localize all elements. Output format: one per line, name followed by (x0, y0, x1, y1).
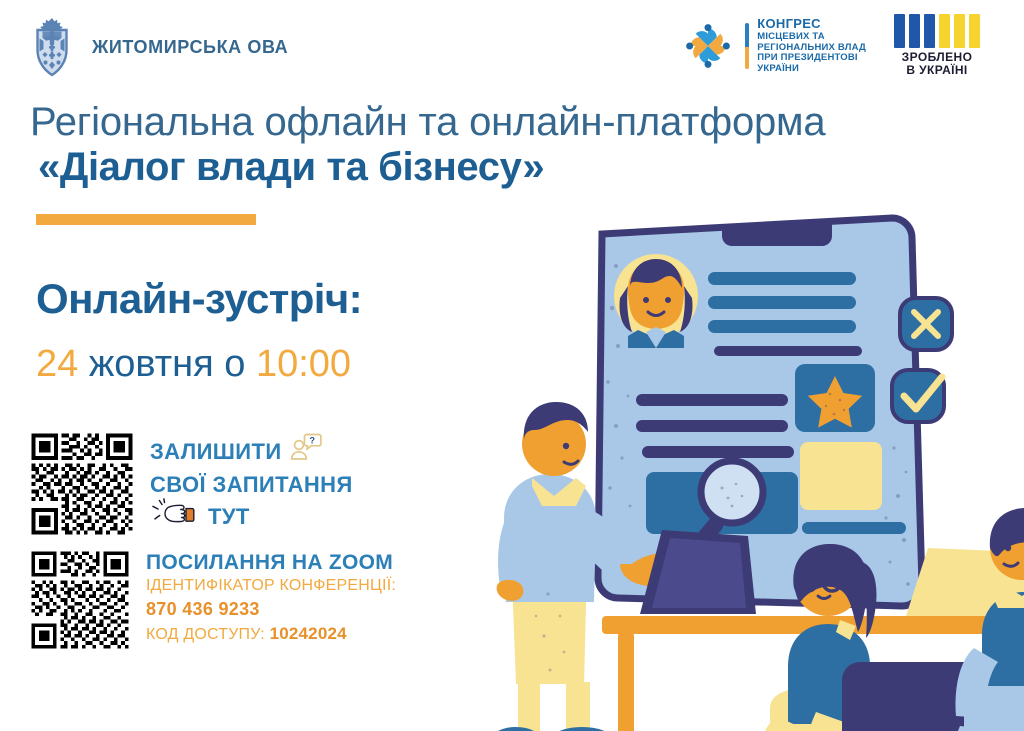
accent-divider (36, 214, 256, 225)
zoom-link-title: ПОСИЛАННЯ НА ZOOM (146, 550, 396, 575)
meeting-label: Онлайн-зустріч: (36, 275, 362, 323)
questions-copy: ЗАЛИШИТИ ? СВОЇ ЗАПИТАННЯ (150, 430, 353, 535)
questions-qr-block[interactable]: ЗАЛИШИТИ ? СВОЇ ЗАПИТАННЯ (28, 430, 353, 538)
congress-pinwheel-logo-icon (679, 17, 737, 75)
check-badge-icon (892, 370, 944, 422)
congress-line-2: МІСЦЕВИХ ТА (757, 32, 866, 43)
congress-logo: КОНГРЕС МІСЦЕВИХ ТА РЕГІОНАЛЬНИХ ВЛАД ПР… (679, 17, 866, 75)
poster-root: ЖИТОМИРСЬКА ОВА (0, 0, 1024, 731)
zoom-qr-block[interactable]: ПОСИЛАННЯ НА ZOOM ІДЕНТИФІКАТОР КОНФЕРЕН… (28, 548, 396, 652)
people-reviewing-document-illustration (470, 196, 1024, 731)
congress-divider (745, 23, 749, 69)
qr-code-zoom-icon[interactable] (28, 548, 132, 652)
star-rating-icon (795, 364, 875, 432)
congress-line-5: УКРАЇНИ (757, 64, 866, 75)
page-title-line-1: Регіональна офлайн та онлайн-платформа (30, 100, 825, 145)
questions-line-3: ТУТ (208, 503, 250, 531)
meeting-day: 24 (36, 343, 78, 385)
qr-code-questions-icon[interactable] (28, 430, 136, 538)
highlight-card (800, 442, 882, 510)
questions-line-2: СВОЇ ЗАПИТАННЯ (150, 471, 353, 499)
partner-logos: КОНГРЕС МІСЦЕВИХ ТА РЕГІОНАЛЬНИХ ВЛАД ПР… (679, 14, 980, 78)
region-branding: ЖИТОМИРСЬКА ОВА (24, 16, 288, 78)
zoom-conference-id-value: 870 436 9233 (146, 598, 396, 622)
cross-badge-icon (900, 298, 952, 350)
svg-text:?: ? (309, 435, 315, 445)
person-question-icon: ? (288, 432, 322, 471)
document-text-lines-middle (636, 394, 794, 458)
zoom-conference-id-label: ІДЕНТИФІКАТОР КОНФЕРЕНЦІЇ: (146, 575, 396, 598)
zoom-access-code-label: КОД ДОСТУПУ: (146, 626, 270, 643)
meeting-time: 10:00 (256, 343, 351, 385)
congress-line-1: КОНГРЕС (757, 17, 866, 32)
zoom-access-code-row: КОД ДОСТУПУ: 10242024 (146, 622, 396, 646)
page-title-line-2: «Діалог влади та бізнесу» (38, 145, 544, 190)
zhytomyr-coat-of-arms-icon (24, 16, 80, 78)
questions-line-3-row: ТУТ (150, 498, 353, 535)
zoom-access-code-value: 10242024 (270, 624, 347, 643)
questions-line-1: ЗАЛИШИТИ (150, 438, 282, 466)
region-name-label: ЖИТОМИРСЬКА ОВА (92, 37, 288, 58)
meeting-month: жовтня о (78, 343, 256, 385)
clipboard-document-icon (598, 206, 922, 606)
zoom-copy: ПОСИЛАННЯ НА ZOOM ІДЕНТИФІКАТОР КОНФЕРЕН… (146, 548, 396, 646)
ukraine-flag-bars-icon (894, 14, 980, 48)
congress-wordmark: КОНГРЕС МІСЦЕВИХ ТА РЕГІОНАЛЬНИХ ВЛАД ПР… (757, 17, 866, 74)
questions-line-2-row: СВОЇ ЗАПИТАННЯ (150, 471, 353, 499)
pointing-hand-icon (150, 498, 202, 535)
questions-line-1-row: ЗАЛИШИТИ ? (150, 432, 353, 471)
made-in-ukraine-logo: ЗРОБЛЕНО В УКРАЇНІ (894, 14, 980, 78)
made-line-2: В УКРАЇНІ (906, 64, 967, 77)
meeting-datetime: 24 жовтня о 10:00 (36, 343, 351, 386)
made-in-ukraine-text: ЗРОБЛЕНО В УКРАЇНІ (902, 51, 973, 78)
